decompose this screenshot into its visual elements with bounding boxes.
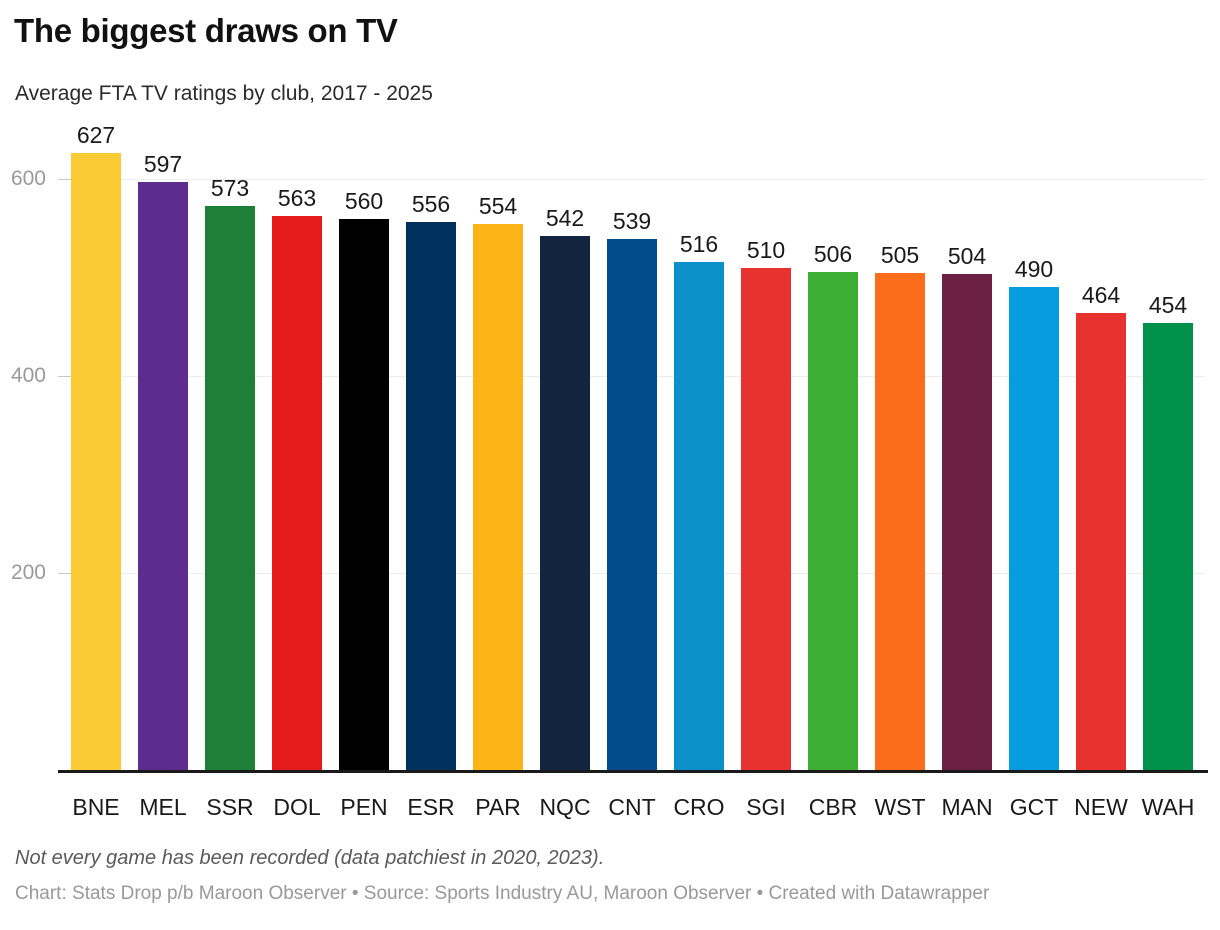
x-axis-tick-label: NEW (1074, 794, 1128, 821)
bar-value-label: 556 (412, 193, 450, 216)
x-axis-tick-label: CNT (608, 794, 655, 821)
x-axis-tick-label: SSR (206, 794, 253, 821)
x-axis-tick-label: ESR (407, 794, 454, 821)
bar-item[interactable]: 516 (674, 120, 724, 770)
x-axis-tick-label: DOL (273, 794, 320, 821)
bar-value-label: 454 (1149, 294, 1187, 317)
bar-rect[interactable] (540, 236, 590, 770)
bar-rect[interactable] (808, 272, 858, 770)
bar-rect[interactable] (1143, 323, 1193, 770)
chart-page: The biggest draws on TV Average FTA TV r… (0, 0, 1220, 930)
bar-item[interactable]: 490 (1009, 120, 1059, 770)
bar-rect[interactable] (272, 216, 322, 770)
bar-value-label: 506 (814, 243, 852, 266)
footer-note: Not every game has been recorded (data p… (15, 845, 1210, 872)
bar-item[interactable]: 560 (339, 120, 389, 770)
bar-value-label: 539 (613, 210, 651, 233)
x-axis-tick-label: NQC (539, 794, 590, 821)
bar-rect[interactable] (674, 262, 724, 770)
x-axis-tick-label: PEN (340, 794, 387, 821)
bar-value-label: 554 (479, 195, 517, 218)
bar-rect[interactable] (1076, 313, 1126, 770)
x-axis-baseline (58, 770, 1208, 773)
bar-value-label: 510 (747, 239, 785, 262)
bar-value-label: 573 (211, 177, 249, 200)
bar-rect[interactable] (138, 182, 188, 770)
bar-item[interactable]: 554 (473, 120, 523, 770)
x-axis-tick-label: CBR (809, 794, 858, 821)
x-axis-tick-label: SGI (746, 794, 786, 821)
bar-item[interactable]: 454 (1143, 120, 1193, 770)
footer-credit: Chart: Stats Drop p/b Maroon Observer • … (15, 881, 1210, 907)
bar-rect[interactable] (406, 222, 456, 770)
bar-rect[interactable] (942, 274, 992, 770)
bar-item[interactable]: 573 (205, 120, 255, 770)
x-axis-tick-label: BNE (72, 794, 119, 821)
bar-value-label: 504 (948, 245, 986, 268)
page-title: The biggest draws on TV (14, 12, 398, 50)
bar-item[interactable]: 506 (808, 120, 858, 770)
bar-item[interactable]: 597 (138, 120, 188, 770)
bar-value-label: 464 (1082, 284, 1120, 307)
plot-area: 200400600 627597573563560556554542539516… (0, 120, 1220, 775)
x-axis-tick-label: WAH (1142, 794, 1195, 821)
bar-value-label: 563 (278, 187, 316, 210)
bar-value-label: 542 (546, 207, 584, 230)
bar-item[interactable]: 542 (540, 120, 590, 770)
bar-rect[interactable] (205, 206, 255, 770)
bar-item[interactable]: 510 (741, 120, 791, 770)
bar-rect[interactable] (339, 219, 389, 771)
bar-rect[interactable] (473, 224, 523, 770)
x-axis-tick-label: PAR (475, 794, 521, 821)
bar-value-label: 490 (1015, 258, 1053, 281)
bar-item[interactable]: 504 (942, 120, 992, 770)
bar-rect[interactable] (1009, 287, 1059, 770)
bar-item[interactable]: 539 (607, 120, 657, 770)
bar-rect[interactable] (607, 239, 657, 770)
bar-item[interactable]: 556 (406, 120, 456, 770)
bar-value-label: 560 (345, 190, 383, 213)
x-axis-tick-label: GCT (1010, 794, 1059, 821)
bar-item[interactable]: 464 (1076, 120, 1126, 770)
bar-item[interactable]: 627 (71, 120, 121, 770)
bar-item[interactable]: 563 (272, 120, 322, 770)
x-axis-tick-label: MAN (941, 794, 992, 821)
chart-footer: Not every game has been recorded (data p… (15, 845, 1210, 907)
bar-value-label: 627 (77, 124, 115, 147)
x-axis-tick-label: MEL (139, 794, 186, 821)
bar-value-label: 597 (144, 153, 182, 176)
x-axis-tick-label: WST (874, 794, 925, 821)
bar-item[interactable]: 505 (875, 120, 925, 770)
chart-subtitle: Average FTA TV ratings by club, 2017 - 2… (15, 82, 433, 106)
x-axis-tick-label: CRO (673, 794, 724, 821)
bar-rect[interactable] (741, 268, 791, 770)
bar-rect[interactable] (875, 273, 925, 770)
bar-rect[interactable] (71, 153, 121, 771)
x-axis-labels: BNEMELSSRDOLPENESRPARNQCCNTCROSGICBRWSTM… (0, 778, 1220, 818)
bar-value-label: 505 (881, 244, 919, 267)
bar-value-label: 516 (680, 233, 718, 256)
bar-series: 6275975735635605565545425395165105065055… (0, 120, 1220, 770)
